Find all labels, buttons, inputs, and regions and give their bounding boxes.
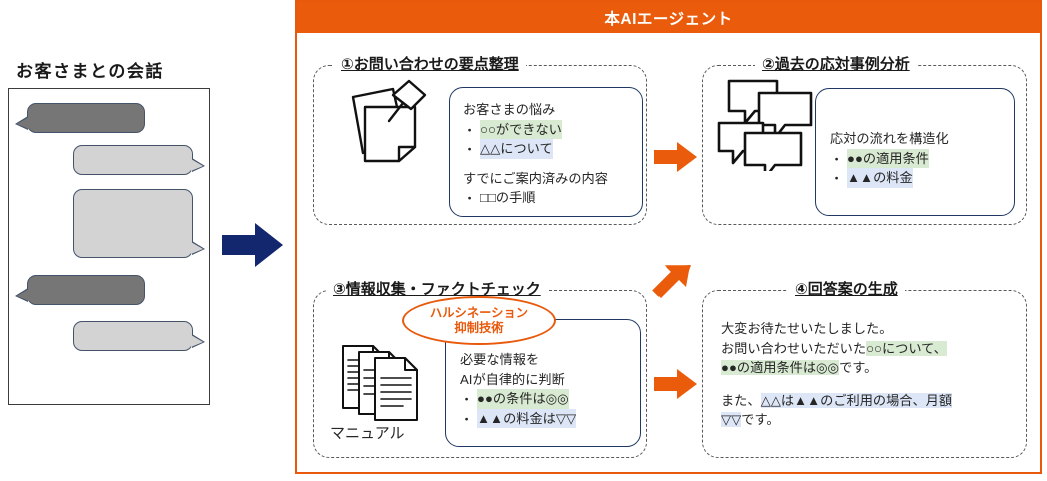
step-1-title: ①お問い合わせの要点整理 <box>334 53 526 74</box>
chat-bubble-4 <box>27 275 145 305</box>
chat-bubble-3 <box>73 189 193 258</box>
step-4-line-3a: ●●の適用条件は◎◎ <box>721 360 839 375</box>
arrow-step1-to-step2-icon <box>654 141 698 173</box>
chat-bubble-1 <box>27 103 145 133</box>
transition-right-arrow-icon <box>222 222 284 268</box>
step-2-bullet-1: ●●の適用条件 <box>847 149 929 169</box>
arrow-step2-to-step3-icon <box>650 260 694 304</box>
step-2-bullet-row-1: ・ ●●の適用条件 <box>830 149 949 169</box>
bullet-marker: ・ <box>830 168 847 187</box>
step-4-line-3b: です。 <box>839 360 877 375</box>
arrow-step3-to-step4-icon <box>654 368 698 400</box>
step-4-line-4a: また、 <box>721 393 761 408</box>
step-3-heading-1: 必要な情報を <box>460 350 576 370</box>
step-1-bullet-2: △△について <box>480 139 553 159</box>
step-4-title: ④回答案の生成 <box>788 278 905 299</box>
step-3-bullet-row-2: ・ ▲▲の料金は▽▽ <box>460 409 576 429</box>
step-1-bullet-row-3: ・ □□の手順 <box>463 188 608 208</box>
step-4-line-5b: です。 <box>741 412 779 427</box>
bullet-marker: ・ <box>460 389 477 408</box>
step-2-bullet-2: ▲▲の料金 <box>847 168 913 188</box>
step-4-line-2a: お問い合わせいただいた <box>721 341 866 356</box>
chat-bubble-2 <box>73 145 193 175</box>
manual-icon-label: マニュアル <box>330 422 405 443</box>
step-1-bullet-row-2: ・ △△について <box>463 139 608 159</box>
bullet-marker: ・ <box>463 120 480 139</box>
bullet-marker: ・ <box>830 149 847 168</box>
step-3-bullet-2: ▲▲の料金は▽▽ <box>477 409 576 429</box>
step-2-title: ②過去の応対事例分析 <box>755 53 917 74</box>
agent-frame: 本AIエージェント ①お問い合わせの要点整理 お客さまの悩み ・ ○○ができな <box>295 0 1042 474</box>
diagram-root: お客さまとの会話 本AIエージェント ①お問い合わせの要点整理 <box>0 0 1047 481</box>
step-2-content-box: 応対の流れを構造化 ・ ●●の適用条件 ・ ▲▲の料金 <box>815 88 1015 216</box>
agent-header-title: 本AIエージェント <box>297 2 1040 33</box>
step-3-bullet-1: ●●の条件は◎◎ <box>477 389 569 409</box>
conversation-title: お客さまとの会話 <box>16 57 164 82</box>
conversation-panel <box>8 88 210 405</box>
step-1-content-box: お客さまの悩み ・ ○○ができない ・ △△について すでにご案内済みの内容 ・… <box>449 87 643 217</box>
step-4-line-2b: ○○について、 <box>866 341 947 356</box>
chat-bubble-5 <box>73 321 193 351</box>
hallucination-badge-line-1: ハルシネーション <box>430 306 528 321</box>
bullet-marker: ・ <box>460 409 477 428</box>
step-3-title: ③情報収集・ファクトチェック <box>326 278 548 299</box>
step-1-heading-2: すでにご案内済みの内容 <box>463 169 608 189</box>
step-3-bullet-row-1: ・ ●●の条件は◎◎ <box>460 389 576 409</box>
pinned-note-icon <box>337 75 443 173</box>
bullet-marker: ・ <box>463 188 480 207</box>
step-4-line-1: 大変お待たせいたしました。 <box>721 319 952 339</box>
step-4-answer-text: 大変お待たせいたしました。 お問い合わせいただいた○○について、 ●●の適用条件… <box>721 319 952 430</box>
step-4-line-4b: △△は▲▲のご利用の場合、月額 <box>761 393 952 408</box>
bullet-marker: ・ <box>463 139 480 158</box>
step-3-heading-2: AIが自律的に判断 <box>460 370 576 390</box>
step-4-line-5a: ▽▽ <box>721 412 741 427</box>
hallucination-suppression-badge: ハルシネーション 抑制技術 <box>402 296 556 345</box>
step-1-bullet-1: ○○ができない <box>480 120 562 140</box>
step-2-heading-1: 応対の流れを構造化 <box>830 129 949 149</box>
step-2-bullet-row-2: ・ ▲▲の料金 <box>830 168 949 188</box>
step-1-bullet-row-1: ・ ○○ができない <box>463 120 608 140</box>
hallucination-badge-line-2: 抑制技術 <box>454 321 503 336</box>
step-1-bullet-3: □□の手順 <box>480 188 536 208</box>
documents-stack-icon <box>337 340 437 426</box>
speech-bubbles-icon <box>715 77 819 171</box>
step-1-heading-1: お客さまの悩み <box>463 100 608 120</box>
